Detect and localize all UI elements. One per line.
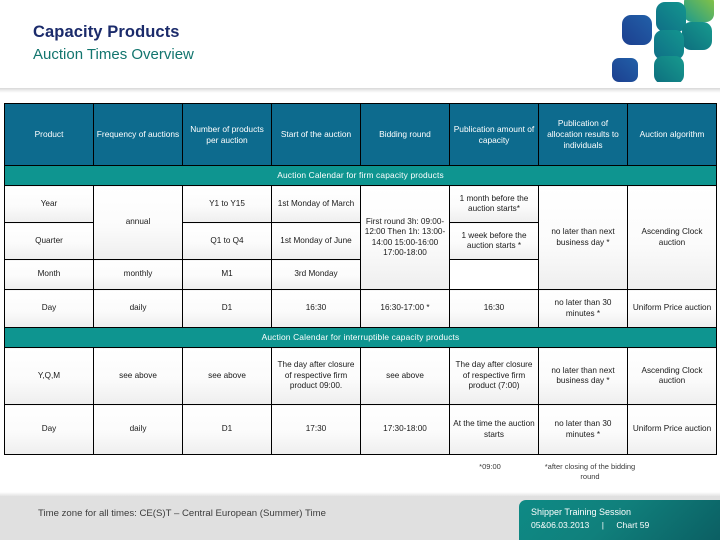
header-divider (0, 88, 720, 93)
footnote-time: *09:00 (455, 462, 525, 472)
cell-frequency: daily (94, 290, 183, 328)
table-header-row: Product Frequency of auctions Number of … (5, 104, 717, 166)
cell-number: see above (183, 348, 272, 405)
cell-number: D1 (183, 290, 272, 328)
cell-publication-amount: At the time the auction starts (450, 405, 539, 455)
cell-algorithm: Ascending Clock auction (628, 348, 717, 405)
cell-frequency: annual (94, 186, 183, 260)
cell-start: 16:30 (272, 290, 361, 328)
cell-product: Day (5, 405, 94, 455)
auction-times-table: Product Frequency of auctions Number of … (4, 103, 716, 455)
column-header-product: Product (5, 104, 94, 166)
footnotes: *09:00 *after closing of the bidding rou… (0, 462, 720, 488)
cell-product: Year (5, 186, 94, 223)
column-header-number-of-products: Number of products per auction (183, 104, 272, 166)
cell-number: Y1 to Y15 (183, 186, 272, 223)
footer-separator: | (592, 520, 614, 530)
section-title-interruptible: Auction Calendar for interruptible capac… (5, 328, 717, 348)
cell-start: 3rd Monday (272, 260, 361, 290)
cell-product: Month (5, 260, 94, 290)
footer-session-date: 05&06.03.2013 (531, 520, 589, 530)
cell-publication-amount: 1 month before the auction starts* (450, 186, 539, 223)
cell-number: Q1 to Q4 (183, 223, 272, 260)
cell-algorithm: Uniform Price auction (628, 290, 717, 328)
cell-publication-results: no later than 30 minutes * (539, 405, 628, 455)
cell-publication-amount: 1 week before the auction starts * (450, 223, 539, 260)
cell-publication-results: no later than next business day * (539, 186, 628, 290)
cell-number: M1 (183, 260, 272, 290)
cell-publication-results: no later than next business day * (539, 348, 628, 405)
section-title-firm: Auction Calendar for firm capacity produ… (5, 166, 717, 186)
column-header-bidding-round: Bidding round (361, 104, 450, 166)
cell-bidding-round: 16:30-17:00 * (361, 290, 450, 328)
column-header-publication-amount: Publication amount of capacity (450, 104, 539, 166)
table-row-firm-year: Year annual Y1 to Y15 1st Monday of Marc… (5, 186, 717, 223)
footer-session-title: Shipper Training Session (531, 505, 720, 519)
column-header-frequency: Frequency of auctions (94, 104, 183, 166)
page-subtitle: Auction Times Overview (33, 44, 194, 65)
column-header-auction-algorithm: Auction algorithm (628, 104, 717, 166)
cell-frequency: see above (94, 348, 183, 405)
cell-bidding-round: First round 3h: 09:00-12:00 Then 1h: 13:… (361, 186, 450, 290)
footer-session-meta: 05&06.03.2013 | Chart 59 (531, 519, 720, 532)
cell-publication-results: no later than 30 minutes * (539, 290, 628, 328)
company-logo-icon (608, 0, 720, 82)
section-row-firm: Auction Calendar for firm capacity produ… (5, 166, 717, 186)
page-header: Capacity Products Auction Times Overview (0, 0, 720, 88)
cell-start: 1st Monday of June (272, 223, 361, 260)
page-footer: Time zone for all times: CE(S)T – Centra… (0, 496, 720, 540)
page-title: Capacity Products (33, 22, 194, 42)
cell-bidding-round: see above (361, 348, 450, 405)
cell-publication-amount: The day after closure of respective firm… (450, 348, 539, 405)
footer-chart-number: Chart 59 (616, 520, 649, 530)
cell-product: Y,Q,M (5, 348, 94, 405)
cell-start: The day after closure of respective firm… (272, 348, 361, 405)
cell-start: 1st Monday of March (272, 186, 361, 223)
title-block: Capacity Products Auction Times Overview (33, 22, 194, 65)
cell-product: Day (5, 290, 94, 328)
cell-number: D1 (183, 405, 272, 455)
footer-session-box: Shipper Training Session 05&06.03.2013 |… (519, 500, 720, 540)
column-header-start-of-auction: Start of the auction (272, 104, 361, 166)
table-row-firm-day: Day daily D1 16:30 16:30-17:00 * 16:30 n… (5, 290, 717, 328)
cell-frequency: monthly (94, 260, 183, 290)
cell-product: Quarter (5, 223, 94, 260)
table-row-interruptible-day: Day daily D1 17:30 17:30-18:00 At the ti… (5, 405, 717, 455)
cell-start: 17:30 (272, 405, 361, 455)
footnote-bidding-round: *after closing of the bidding round (540, 462, 640, 481)
cell-algorithm: Ascending Clock auction (628, 186, 717, 290)
timezone-note: Time zone for all times: CE(S)T – Centra… (38, 508, 326, 519)
cell-algorithm: Uniform Price auction (628, 405, 717, 455)
column-header-publication-results: Publication of allocation results to ind… (539, 104, 628, 166)
cell-bidding-round: 17:30-18:00 (361, 405, 450, 455)
cell-frequency: daily (94, 405, 183, 455)
table-row-interruptible-yqm: Y,Q,M see above see above The day after … (5, 348, 717, 405)
cell-publication-amount: 16:30 (450, 290, 539, 328)
section-row-interruptible: Auction Calendar for interruptible capac… (5, 328, 717, 348)
